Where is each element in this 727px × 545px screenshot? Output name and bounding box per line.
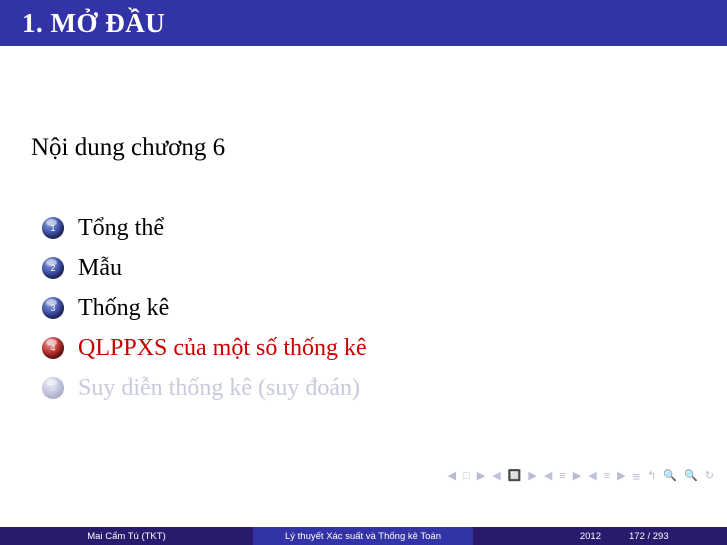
bullet-number: 2 <box>50 263 55 273</box>
footer-author: Mai Cẩm Tú (TKT) <box>0 527 253 545</box>
bullet-number: 1 <box>50 223 55 233</box>
list-item[interactable]: 5 Suy diễn thống kê (suy đoán) <box>42 368 662 408</box>
bullet-icon: 4 <box>42 337 64 359</box>
slide-footer: Mai Cẩm Tú (TKT) Lý thuyết Xác suất và T… <box>0 527 727 545</box>
bullet-icon: 2 <box>42 257 64 279</box>
bullet-icon: 3 <box>42 297 64 319</box>
list-item-label: QLPPXS của một số thống kê <box>78 335 367 362</box>
prev-slide-icon[interactable]: ◀ <box>447 471 457 482</box>
next-section-icon[interactable]: ▶ <box>616 471 626 482</box>
bullet-icon: 5 <box>42 377 64 399</box>
footer-year: 2012 <box>473 527 623 545</box>
frame-icon[interactable]: 🔲 <box>507 471 523 482</box>
bullet-number: 3 <box>50 303 55 313</box>
bullet-number: 5 <box>50 383 55 393</box>
prev-frame-icon[interactable]: ◀ <box>491 471 501 482</box>
next-slide-icon[interactable]: ▶ <box>476 471 486 482</box>
list-item[interactable]: 3 Thống kê <box>42 288 662 328</box>
subsection-icon[interactable]: ≡ <box>558 471 566 482</box>
navigation-symbols[interactable]: ◀ □ ▶ ◀ 🔲 ▶ ◀ ≡ ▶ ◀ ≡ ▶ ≡ ↰ 🔍 🔍 ↻ <box>447 470 715 483</box>
bullet-number: 4 <box>50 343 55 353</box>
list-item-label: Mẫu <box>78 255 122 282</box>
list-item[interactable]: 1 Tổng thể <box>42 208 662 248</box>
search-icon[interactable]: 🔍 <box>662 471 678 482</box>
slide-body: Nội dung chương 6 1 Tổng thể 2 Mẫu 3 Thố… <box>0 46 727 515</box>
slide-icon[interactable]: □ <box>462 471 471 482</box>
prev-subsection-icon[interactable]: ◀ <box>543 471 553 482</box>
back-icon[interactable]: ↰ <box>646 471 657 482</box>
find-icon[interactable]: 🔍 <box>683 471 699 482</box>
list-item-label: Suy diễn thống kê (suy đoán) <box>78 375 360 402</box>
section-icon[interactable]: ≡ <box>603 471 611 482</box>
outline-list: 1 Tổng thể 2 Mẫu 3 Thống kê 4 QLPPXS của… <box>42 208 662 408</box>
next-subsection-icon[interactable]: ▶ <box>572 471 582 482</box>
list-item-label: Tổng thể <box>78 215 164 242</box>
prev-section-icon[interactable]: ◀ <box>587 471 597 482</box>
document-icon[interactable]: ≡ <box>632 470 642 483</box>
footer-page-number: 172 / 293 <box>623 527 727 545</box>
page-title: 1. MỞ ĐẦU <box>0 10 165 37</box>
next-frame-icon[interactable]: ▶ <box>527 471 537 482</box>
slide-title-bar: 1. MỞ ĐẦU <box>0 0 727 46</box>
section-heading: Nội dung chương 6 <box>31 134 225 162</box>
list-item[interactable]: 4 QLPPXS của một số thống kê <box>42 328 662 368</box>
bullet-icon: 1 <box>42 217 64 239</box>
footer-subject: Lý thuyết Xác suất và Thống kê Toán <box>253 527 473 545</box>
list-item-label: Thống kê <box>78 295 169 322</box>
reload-icon[interactable]: ↻ <box>704 471 715 482</box>
list-item[interactable]: 2 Mẫu <box>42 248 662 288</box>
